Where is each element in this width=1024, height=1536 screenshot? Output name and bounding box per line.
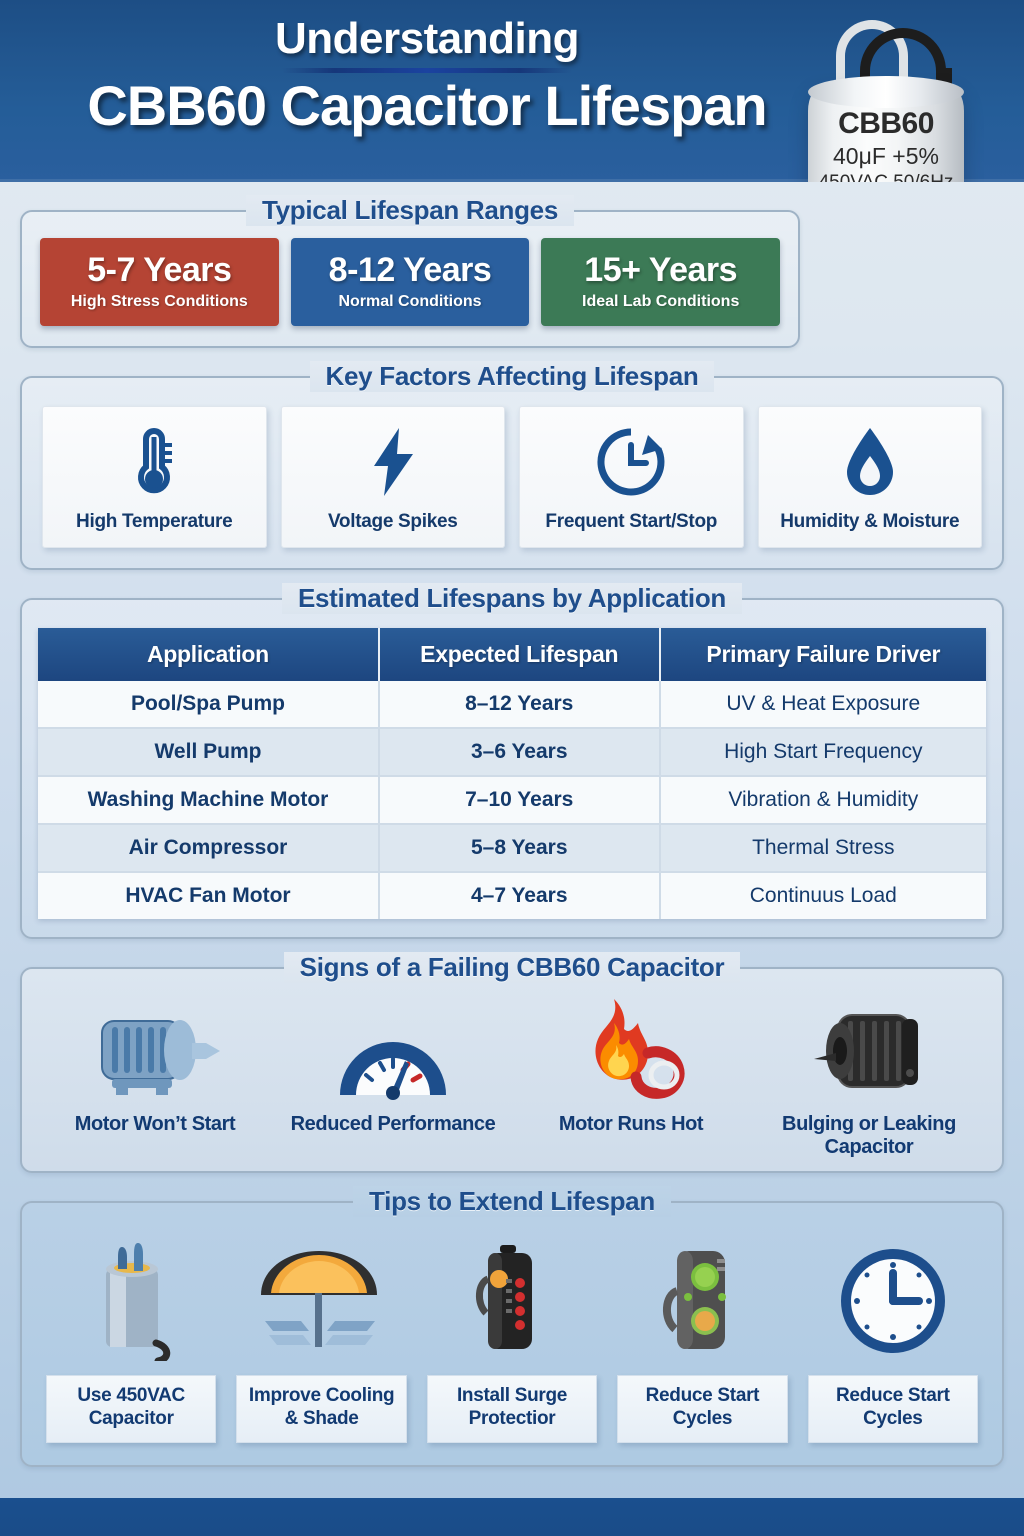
controller-icon xyxy=(611,1231,793,1361)
factor-card-high-temperature: High Temperature xyxy=(42,406,267,548)
panel-title-factors-text: Key Factors Affecting Lifespan xyxy=(310,361,715,392)
page-title-line2: CBB60 Capacitor Lifespan xyxy=(0,77,854,136)
tip-card-reduce-start-cycles-clock: Reduce Start Cycles xyxy=(798,1231,988,1443)
cell-driver: High Start Frequency xyxy=(660,728,986,776)
cell-lifespan: 3–6 Years xyxy=(379,728,660,776)
panel-lifespan-ranges: Typical Lifespan Ranges 5-7 Years High S… xyxy=(20,210,800,348)
cell-driver: UV & Heat Exposure xyxy=(660,681,986,728)
capacitor-icon xyxy=(40,1231,222,1361)
cell-application: Air Compressor xyxy=(38,824,379,872)
tip-label: Reduce Start Cycles xyxy=(808,1375,978,1443)
panel-tips: Tips to Extend Lifespan xyxy=(20,1201,1004,1467)
thermometer-icon xyxy=(47,425,262,499)
column-header-application: Application xyxy=(38,628,379,681)
sign-label: Motor Runs Hot xyxy=(512,1113,750,1136)
cell-application: Pool/Spa Pump xyxy=(38,681,379,728)
panel-title-ranges-text: Typical Lifespan Ranges xyxy=(246,195,574,226)
tip-card-improve-cooling-shade: Improve Cooling & Shade xyxy=(226,1231,416,1443)
tip-label: Reduce Start Cycles xyxy=(617,1375,787,1443)
range-years: 5-7 Years xyxy=(46,251,273,290)
gauge-icon xyxy=(274,995,512,1103)
cell-lifespan: 8–12 Years xyxy=(379,681,660,728)
header-banner: Understanding CBB60 Capacitor Lifespan C… xyxy=(0,0,1024,182)
panel-failing-signs: Signs of a Failing CBB60 Capacitor xyxy=(20,967,1004,1173)
table-header-row: Application Expected Lifespan Primary Fa… xyxy=(38,628,986,681)
table-row: Well Pump 3–6 Years High Start Frequency xyxy=(38,728,986,776)
flame-icon xyxy=(512,995,750,1103)
panel-key-factors: Key Factors Affecting Lifespan xyxy=(20,376,1004,570)
lifespans-table: Application Expected Lifespan Primary Fa… xyxy=(38,628,986,919)
factor-card-frequent-start-stop: Frequent Start/Stop xyxy=(519,406,744,548)
factor-label: Humidity & Moisture xyxy=(763,511,978,533)
page-title-line1: Understanding xyxy=(0,16,854,62)
sign-card-list: Motor Won’t Start xyxy=(36,995,988,1159)
panel-lifespans-table: Estimated Lifespans by Application Appli… xyxy=(20,598,1004,939)
lightning-bolt-icon xyxy=(286,425,501,499)
tip-card-list: Use 450VAC Capacitor xyxy=(36,1231,988,1443)
factor-card-humidity-moisture: Humidity & Moisture xyxy=(758,406,983,548)
table-row: Washing Machine Motor 7–10 Years Vibrati… xyxy=(38,776,986,824)
cell-application: HVAC Fan Motor xyxy=(38,872,379,919)
tip-card-install-surge-protector: Install Surge Protectior xyxy=(417,1231,607,1443)
sign-label: Reduced Performance xyxy=(274,1113,512,1136)
table-row: Air Compressor 5–8 Years Thermal Stress xyxy=(38,824,986,872)
range-card-high-stress: 5-7 Years High Stress Conditions xyxy=(40,238,279,326)
table-row: HVAC Fan Motor 4–7 Years Continuus Load xyxy=(38,872,986,919)
range-condition: Ideal Lab Conditions xyxy=(547,293,774,311)
clock-cycle-icon xyxy=(524,425,739,499)
tip-card-reduce-start-cycles-controller: Reduce Start Cycles xyxy=(607,1231,797,1443)
range-card-list: 5-7 Years High Stress Conditions 8-12 Ye… xyxy=(40,238,780,326)
factor-label: Frequent Start/Stop xyxy=(524,511,739,533)
cell-application: Washing Machine Motor xyxy=(38,776,379,824)
sign-label: Motor Won’t Start xyxy=(36,1113,274,1136)
water-droplet-icon xyxy=(763,425,978,499)
footer-bar xyxy=(0,1498,1024,1536)
column-header-expected-lifespan: Expected Lifespan xyxy=(379,628,660,681)
sign-card-motor-wont-start: Motor Won’t Start xyxy=(36,995,274,1159)
cell-lifespan: 4–7 Years xyxy=(379,872,660,919)
panel-title-signs: Signs of a Failing CBB60 Capacitor xyxy=(22,952,1002,983)
infographic-page: Understanding CBB60 Capacitor Lifespan C… xyxy=(0,0,1024,1536)
capacitor-model: CBB60 xyxy=(808,106,964,141)
cell-driver: Vibration & Humidity xyxy=(660,776,986,824)
panel-title-factors: Key Factors Affecting Lifespan xyxy=(22,361,1002,392)
tip-label: Improve Cooling & Shade xyxy=(236,1375,406,1443)
tip-label: Install Surge Protectior xyxy=(427,1375,597,1443)
factor-card-voltage-spikes: Voltage Spikes xyxy=(281,406,506,548)
sign-label: Bulging or Leaking Capacitor xyxy=(750,1113,988,1159)
cell-driver: Continuus Load xyxy=(660,872,986,919)
range-condition: Normal Conditions xyxy=(297,293,524,311)
capacitor-label: CBB60 40μF +5% 450VAC 50/6Hz 70% 60°C SH xyxy=(808,106,964,182)
panel-title-table-text: Estimated Lifespans by Application xyxy=(282,583,742,614)
capacitor-voltage: 450VAC 50/6Hz xyxy=(808,172,964,182)
electric-motor-icon xyxy=(36,995,274,1103)
range-condition: High Stress Conditions xyxy=(46,293,273,311)
table-head: Application Expected Lifespan Primary Fa… xyxy=(38,628,986,681)
panel-title-tips: Tips to Extend Lifespan xyxy=(22,1186,1002,1217)
panel-title-tips-text: Tips to Extend Lifespan xyxy=(353,1186,671,1217)
factor-label: Voltage Spikes xyxy=(286,511,501,533)
capacitor-capacitance: 40μF +5% xyxy=(808,143,964,170)
range-card-normal: 8-12 Years Normal Conditions xyxy=(291,238,530,326)
cell-driver: Thermal Stress xyxy=(660,824,986,872)
range-card-ideal: 15+ Years Ideal Lab Conditions xyxy=(541,238,780,326)
sign-card-bulging-leaking-capacitor: Bulging or Leaking Capacitor xyxy=(750,995,988,1159)
tip-card-use-450vac-capacitor: Use 450VAC Capacitor xyxy=(36,1231,226,1443)
factor-label: High Temperature xyxy=(47,511,262,533)
cell-application: Well Pump xyxy=(38,728,379,776)
sign-card-reduced-performance: Reduced Performance xyxy=(274,995,512,1159)
capacitor-top-cap xyxy=(808,76,964,108)
table-body: Pool/Spa Pump 8–12 Years UV & Heat Expos… xyxy=(38,681,986,919)
content-area: Typical Lifespan Ranges 5-7 Years High S… xyxy=(0,210,1024,1467)
clock-icon xyxy=(802,1231,984,1361)
surge-protector-icon xyxy=(421,1231,603,1361)
panel-title-table: Estimated Lifespans by Application xyxy=(22,583,1002,614)
sign-card-motor-runs-hot: Motor Runs Hot xyxy=(512,995,750,1159)
dark-motor-icon xyxy=(750,995,988,1103)
title-underline-accent xyxy=(282,68,572,73)
table-row: Pool/Spa Pump 8–12 Years UV & Heat Expos… xyxy=(38,681,986,728)
panel-title-ranges: Typical Lifespan Ranges xyxy=(22,195,798,226)
factor-card-list: High Temperature Voltage Spikes xyxy=(42,406,982,548)
umbrella-icon xyxy=(230,1231,412,1361)
range-years: 8-12 Years xyxy=(297,251,524,290)
cell-lifespan: 7–10 Years xyxy=(379,776,660,824)
range-years: 15+ Years xyxy=(547,251,774,290)
panel-title-signs-text: Signs of a Failing CBB60 Capacitor xyxy=(284,952,741,983)
column-header-primary-failure-driver: Primary Failure Driver xyxy=(660,628,986,681)
tip-label: Use 450VAC Capacitor xyxy=(46,1375,216,1443)
capacitor-photo: CBB60 40μF +5% 450VAC 50/6Hz 70% 60°C SH xyxy=(794,10,994,182)
cell-lifespan: 5–8 Years xyxy=(379,824,660,872)
